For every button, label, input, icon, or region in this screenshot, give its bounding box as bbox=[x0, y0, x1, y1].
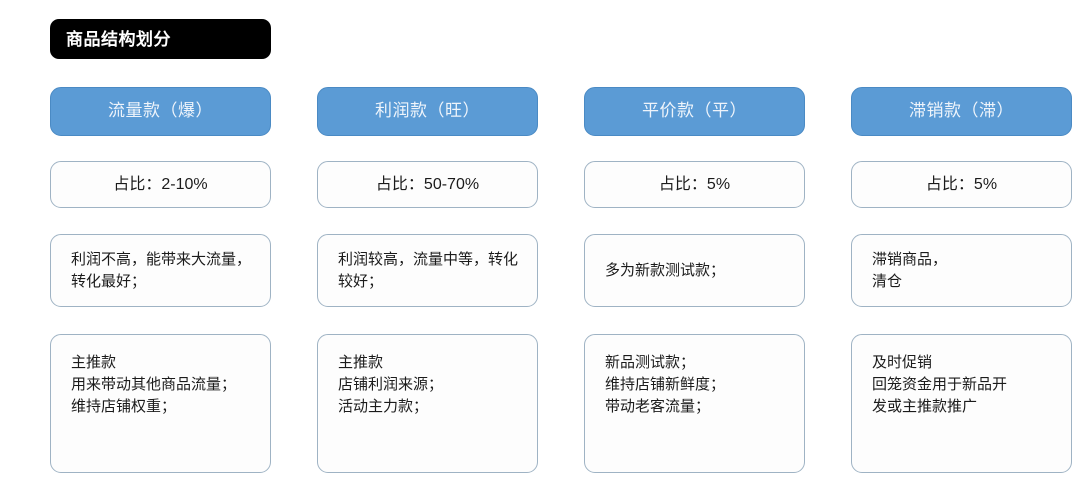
category-column-unsold: 滞销款（滞） 占比：5% 滞销商品， 清仓 及时促销 回笼资金用于新品开 发或主… bbox=[851, 87, 1072, 473]
column-ratio-unsold: 占比：5% bbox=[851, 161, 1072, 208]
column-ratio-label: 占比：5% bbox=[659, 175, 730, 194]
column-desc-traffic: 利润不高，能带来大流量，转化最好； bbox=[50, 234, 271, 307]
column-role-profit: 主推款 店铺利润来源； 活动主力款； bbox=[317, 334, 538, 473]
column-ratio-standard: 占比：5% bbox=[584, 161, 805, 208]
column-ratio-traffic: 占比：2-10% bbox=[50, 161, 271, 208]
column-desc-label: 多为新款测试款； bbox=[605, 260, 725, 282]
column-desc-standard: 多为新款测试款； bbox=[584, 234, 805, 307]
column-header-standard[interactable]: 平价款（平） bbox=[584, 87, 805, 136]
column-desc-profit: 利润较高，流量中等，转化较好； bbox=[317, 234, 538, 307]
column-header-label: 利润款（旺） bbox=[375, 101, 480, 121]
column-header-label: 滞销款（滞） bbox=[909, 101, 1014, 121]
column-ratio-profit: 占比：50-70% bbox=[317, 161, 538, 208]
diagram-board: 商品结构划分 流量款（爆） 占比：2-10% 利润不高，能带来大流量，转化最好；… bbox=[0, 0, 1080, 497]
column-role-traffic: 主推款 用来带动其他商品流量； 维持店铺权重； bbox=[50, 334, 271, 473]
category-column-standard: 平价款（平） 占比：5% 多为新款测试款； 新品测试款； 维持店铺新鲜度； 带动… bbox=[584, 87, 805, 473]
column-role-label: 及时促销 回笼资金用于新品开 发或主推款推广 bbox=[872, 352, 1007, 418]
column-ratio-label: 占比：5% bbox=[926, 175, 997, 194]
column-desc-label: 利润较高，流量中等，转化较好； bbox=[338, 249, 521, 293]
column-role-standard: 新品测试款； 维持店铺新鲜度； 带动老客流量； bbox=[584, 334, 805, 473]
column-ratio-label: 占比：2-10% bbox=[113, 175, 207, 194]
column-role-label: 主推款 用来带动其他商品流量； 维持店铺权重； bbox=[71, 352, 236, 418]
column-header-profit[interactable]: 利润款（旺） bbox=[317, 87, 538, 136]
column-header-label: 平价款（平） bbox=[642, 101, 747, 121]
column-header-label: 流量款（爆） bbox=[108, 101, 213, 121]
column-role-label: 主推款 店铺利润来源； 活动主力款； bbox=[338, 352, 443, 418]
page-title: 商品结构划分 bbox=[50, 31, 171, 48]
column-ratio-label: 占比：50-70% bbox=[376, 175, 479, 194]
column-role-unsold: 及时促销 回笼资金用于新品开 发或主推款推广 bbox=[851, 334, 1072, 473]
category-column-traffic: 流量款（爆） 占比：2-10% 利润不高，能带来大流量，转化最好； 主推款 用来… bbox=[50, 87, 271, 473]
diagram-title-bar: 商品结构划分 bbox=[50, 19, 271, 59]
column-desc-label: 利润不高，能带来大流量，转化最好； bbox=[71, 249, 254, 293]
category-column-profit: 利润款（旺） 占比：50-70% 利润较高，流量中等，转化较好； 主推款 店铺利… bbox=[317, 87, 538, 473]
column-header-unsold[interactable]: 滞销款（滞） bbox=[851, 87, 1072, 136]
column-desc-label: 滞销商品， 清仓 bbox=[872, 249, 947, 293]
column-desc-unsold: 滞销商品， 清仓 bbox=[851, 234, 1072, 307]
category-columns: 流量款（爆） 占比：2-10% 利润不高，能带来大流量，转化最好； 主推款 用来… bbox=[50, 87, 1035, 473]
column-header-traffic[interactable]: 流量款（爆） bbox=[50, 87, 271, 136]
column-role-label: 新品测试款； 维持店铺新鲜度； 带动老客流量； bbox=[605, 352, 725, 418]
